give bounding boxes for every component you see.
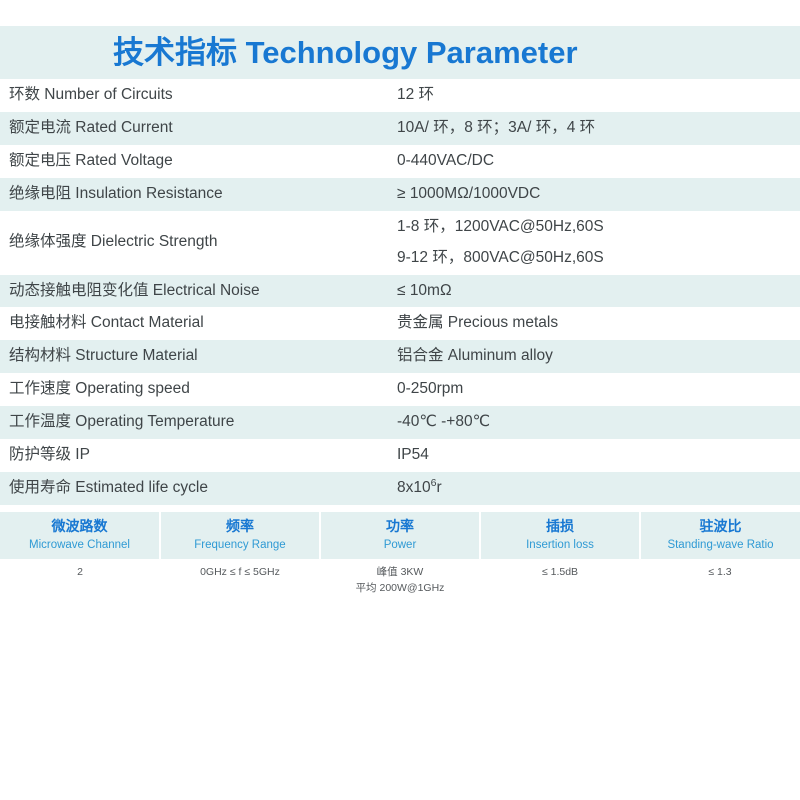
spec-table-body: 环数 Number of Circuits12 环额定电流 Rated Curr…: [0, 79, 800, 505]
spec-label: 额定电流 Rated Current: [0, 112, 397, 145]
spec-table-row: 额定电流 Rated Current10A/ 环，8 环；3A/ 环，4 环: [0, 112, 800, 145]
microwave-header-cn: 微波路数: [2, 517, 157, 536]
microwave-header-cn: 功率: [323, 517, 477, 536]
spec-value: -40℃ -+80℃: [397, 406, 800, 439]
spec-label: 工作速度 Operating speed: [0, 373, 397, 406]
microwave-header-cell: 微波路数Microwave Channel: [0, 512, 160, 559]
spec-value: 铝合金 Aluminum alloy: [397, 340, 800, 373]
spec-label: 使用寿命 Estimated life cycle: [0, 472, 397, 505]
spec-value: 10A/ 环，8 环；3A/ 环，4 环: [397, 112, 800, 145]
microwave-header-en: Microwave Channel: [2, 537, 157, 553]
spec-value-line: IP54: [397, 445, 800, 466]
page-title: 技术指标 Technology Parameter: [113, 37, 578, 68]
microwave-table-head: 微波路数Microwave Channel频率Frequency Range功率…: [0, 512, 800, 559]
microwave-header-row: 微波路数Microwave Channel频率Frequency Range功率…: [0, 512, 800, 559]
microwave-table-body: 20GHz ≤ f ≤ 5GHz峰值 3KW平均 200W@1GHz≤ 1.5d…: [0, 559, 800, 605]
microwave-header-cn: 驻波比: [643, 517, 798, 536]
spec-value-line: 10A/ 环，8 环；3A/ 环，4 环: [397, 118, 800, 139]
spec-value-line: ≤ 10mΩ: [397, 281, 800, 302]
spec-table-row: 工作温度 Operating Temperature-40℃ -+80℃: [0, 406, 800, 439]
microwave-header-cell: 驻波比Standing-wave Ratio: [640, 512, 800, 559]
microwave-cell-channel: 2: [0, 559, 160, 605]
spec-value: ≤ 10mΩ: [397, 275, 800, 308]
microwave-cell-swr: ≤ 1.3: [640, 559, 800, 605]
spec-value: 贵金属 Precious metals: [397, 307, 800, 340]
spec-value-line: -40℃ -+80℃: [397, 412, 800, 433]
spec-value-line: 铝合金 Aluminum alloy: [397, 346, 800, 367]
microwave-table-row: 20GHz ≤ f ≤ 5GHz峰值 3KW平均 200W@1GHz≤ 1.5d…: [0, 559, 800, 605]
spec-table-row: 额定电压 Rated Voltage0-440VAC/DC: [0, 145, 800, 178]
technology-parameter-table: 环数 Number of Circuits12 环额定电流 Rated Curr…: [0, 79, 800, 505]
spec-label: 绝缘体强度 Dielectric Strength: [0, 211, 397, 275]
microwave-parameter-table: 微波路数Microwave Channel频率Frequency Range功率…: [0, 512, 800, 604]
spec-table-row: 电接触材料 Contact Material贵金属 Precious metal…: [0, 307, 800, 340]
spec-table-row: 绝缘体强度 Dielectric Strength1-8 环，1200VAC@5…: [0, 211, 800, 275]
microwave-cell-line: 2: [2, 565, 158, 581]
spec-table-row: 环数 Number of Circuits12 环: [0, 79, 800, 112]
spec-table-row: 结构材料 Structure Material铝合金 Aluminum allo…: [0, 340, 800, 373]
spec-table-row: 使用寿命 Estimated life cycle8x106r: [0, 472, 800, 505]
spec-value: 0-440VAC/DC: [397, 145, 800, 178]
microwave-header-cn: 插损: [483, 517, 637, 536]
microwave-header-en: Insertion loss: [483, 537, 637, 553]
spec-value-line: 0-440VAC/DC: [397, 151, 800, 172]
spec-value-line: 贵金属 Precious metals: [397, 313, 800, 334]
spec-table-row: 工作速度 Operating speed0-250rpm: [0, 373, 800, 406]
spec-label: 防护等级 IP: [0, 439, 397, 472]
spec-label: 额定电压 Rated Voltage: [0, 145, 397, 178]
spec-label: 环数 Number of Circuits: [0, 79, 397, 112]
microwave-cell-line: ≤ 1.5dB: [482, 565, 638, 581]
spec-table-row: 防护等级 IPIP54: [0, 439, 800, 472]
spec-label: 电接触材料 Contact Material: [0, 307, 397, 340]
page-title-band: 技术指标 Technology Parameter: [0, 26, 800, 79]
spec-value: IP54: [397, 439, 800, 472]
microwave-header-cell: 功率Power: [320, 512, 480, 559]
microwave-cell-frequency: 0GHz ≤ f ≤ 5GHz: [160, 559, 320, 605]
microwave-header-cell: 频率Frequency Range: [160, 512, 320, 559]
spec-value-line: 12 环: [397, 85, 800, 106]
spec-value-line: 9-12 环，800VAC@50Hz,60S: [397, 248, 800, 269]
spec-table-row: 动态接触电阻变化值 Electrical Noise≤ 10mΩ: [0, 275, 800, 308]
spec-label: 动态接触电阻变化值 Electrical Noise: [0, 275, 397, 308]
microwave-cell-line: 平均 200W@1GHz: [322, 581, 478, 597]
spec-value-line: 8x106r: [397, 478, 800, 499]
spec-label: 绝缘电阻 Insulation Resistance: [0, 178, 397, 211]
spec-label: 工作温度 Operating Temperature: [0, 406, 397, 439]
spec-table-row: 绝缘电阻 Insulation Resistance≥ 1000MΩ/1000V…: [0, 178, 800, 211]
spec-sheet-page: 技术指标 Technology Parameter 环数 Number of C…: [0, 0, 800, 800]
spec-value-line: 0-250rpm: [397, 379, 800, 400]
microwave-header-en: Power: [323, 537, 477, 553]
spec-value-line: 1-8 环，1200VAC@50Hz,60S: [397, 217, 800, 238]
spec-label: 结构材料 Structure Material: [0, 340, 397, 373]
microwave-cell-line: 0GHz ≤ f ≤ 5GHz: [162, 565, 318, 581]
spec-value: 0-250rpm: [397, 373, 800, 406]
spec-value: 8x106r: [397, 472, 800, 505]
microwave-cell-power: 峰值 3KW平均 200W@1GHz: [320, 559, 480, 605]
spec-value-line: ≥ 1000MΩ/1000VDC: [397, 184, 800, 205]
microwave-cell-line: ≤ 1.3: [642, 565, 798, 581]
microwave-header-en: Standing-wave Ratio: [643, 537, 798, 553]
spec-value: 1-8 环，1200VAC@50Hz,60S9-12 环，800VAC@50Hz…: [397, 211, 800, 275]
microwave-cell-line: 峰值 3KW: [322, 565, 478, 581]
microwave-header-en: Frequency Range: [163, 537, 317, 553]
superscript-exponent: 6: [431, 477, 437, 489]
microwave-header-cell: 插损Insertion loss: [480, 512, 640, 559]
microwave-header-cn: 频率: [163, 517, 317, 536]
spec-value: ≥ 1000MΩ/1000VDC: [397, 178, 800, 211]
microwave-cell-insertion-loss: ≤ 1.5dB: [480, 559, 640, 605]
spec-value: 12 环: [397, 79, 800, 112]
